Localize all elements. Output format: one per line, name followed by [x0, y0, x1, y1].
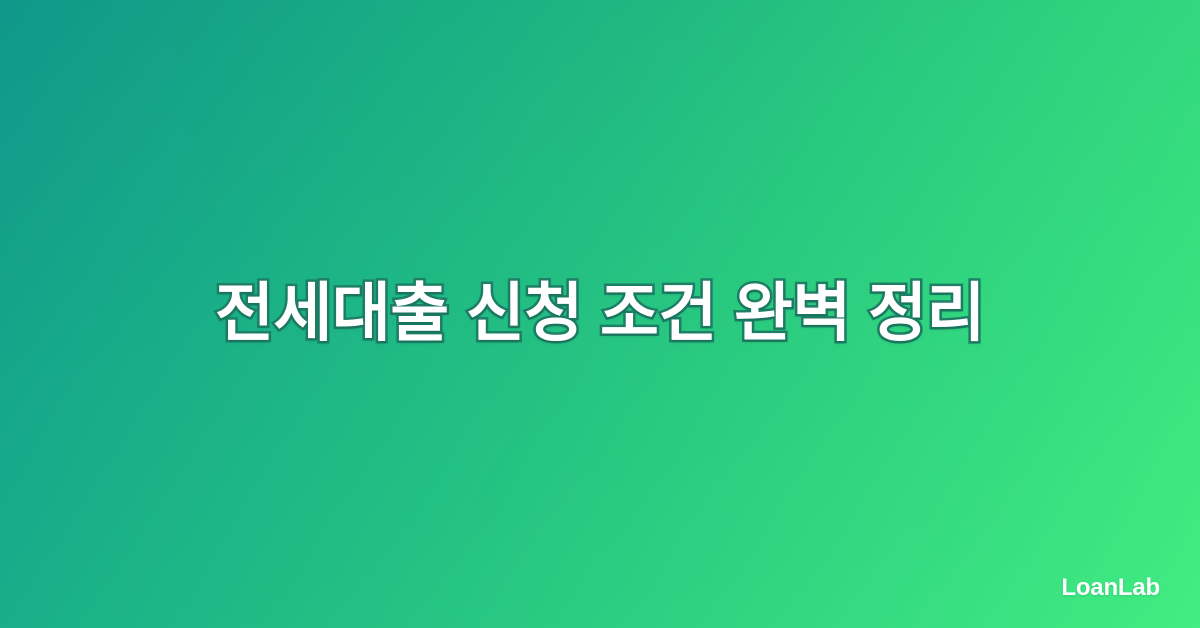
title-container: 전세대출 신청 조건 완벽 정리 [0, 0, 1200, 628]
og-image-card: 전세대출 신청 조건 완벽 정리 LoanLab [0, 0, 1200, 628]
page-title: 전세대출 신청 조건 완벽 정리 [215, 278, 985, 350]
brand-logo-text: LoanLab [1061, 576, 1160, 600]
